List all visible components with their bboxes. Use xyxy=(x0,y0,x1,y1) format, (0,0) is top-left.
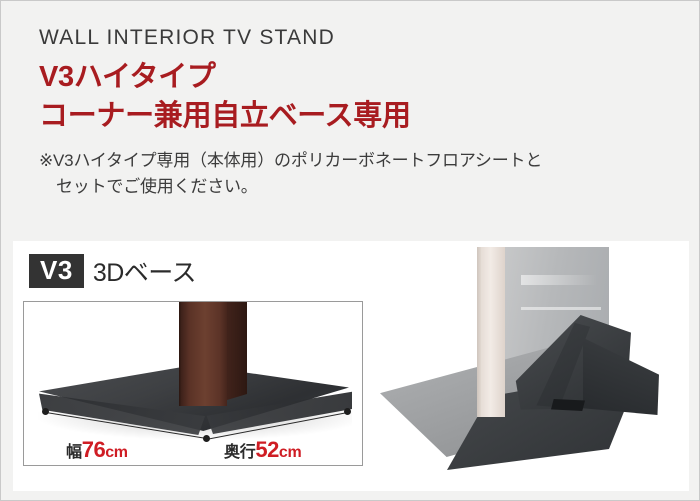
figure-stage: 幅76cm 奥行52cm xyxy=(24,302,362,465)
wedge-cable-slot xyxy=(551,399,585,411)
width-value: 76 xyxy=(82,437,105,462)
brand-eyebrow-text: WALL INTERIOR TV STAND xyxy=(39,25,659,51)
header-block: WALL INTERIOR TV STAND V3ハイタイプ コーナー兼用自立ベ… xyxy=(39,25,659,200)
depth-dimension-label: 奥行52cm xyxy=(224,437,301,463)
depth-unit: cm xyxy=(279,444,302,461)
card-heading-row: V3 3Dベース xyxy=(29,253,196,289)
dimension-endpoint-left xyxy=(42,408,49,415)
width-unit: cm xyxy=(105,444,128,461)
card-heading-label: 3Dベース xyxy=(93,253,196,289)
usage-note-line-1: ※V3ハイタイプ専用（本体用）のポリカーボネートフロアシートと xyxy=(39,151,542,170)
corner-post xyxy=(481,247,505,417)
base-spec-card: V3 3Dベース 幅76cm xyxy=(13,241,689,491)
usage-note: ※V3ハイタイプ専用（本体用）のポリカーボネートフロアシートと セットでご使用く… xyxy=(39,148,659,200)
dimension-endpoint-center xyxy=(203,435,210,442)
wall-highlight xyxy=(521,275,597,285)
v3-badge: V3 xyxy=(29,254,84,289)
page-title: V3ハイタイプ コーナー兼用自立ベース専用 xyxy=(39,58,659,135)
page-title-line-2: コーナー兼用自立ベース専用 xyxy=(39,97,659,136)
product-feature-page: WALL INTERIOR TV STAND V3ハイタイプ コーナー兼用自立ベ… xyxy=(0,0,700,501)
walnut-pillar-side xyxy=(227,301,247,400)
walnut-pillar-front xyxy=(181,301,227,406)
depth-label-text: 奥行 xyxy=(224,444,255,461)
dimension-endpoint-right xyxy=(344,408,351,415)
width-dimension-label: 幅76cm xyxy=(66,437,128,463)
base-dimension-figure: 幅76cm 奥行52cm xyxy=(23,301,363,466)
wall-seam-line xyxy=(521,307,601,310)
usage-note-line-2: セットでご使用ください。 xyxy=(39,174,659,200)
width-label-text: 幅 xyxy=(66,444,82,461)
page-title-line-1: V3ハイタイプ xyxy=(39,58,659,97)
corner-base-photo xyxy=(371,247,671,485)
depth-value: 52 xyxy=(255,437,278,462)
